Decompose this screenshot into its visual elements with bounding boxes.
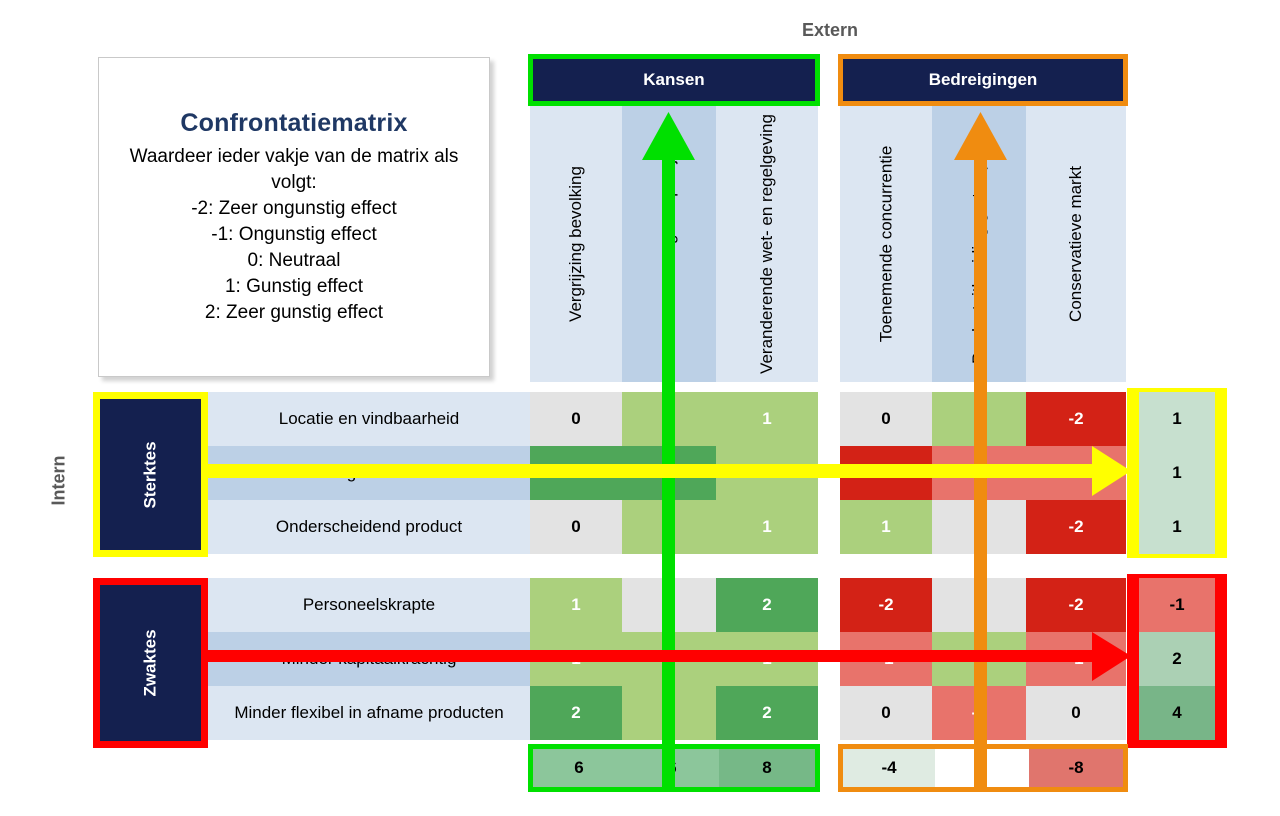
arrow-overlay [0, 0, 1280, 816]
bedreigingen-up-arrow-icon [954, 112, 1007, 790]
kansen-up-arrow-icon [642, 112, 695, 790]
